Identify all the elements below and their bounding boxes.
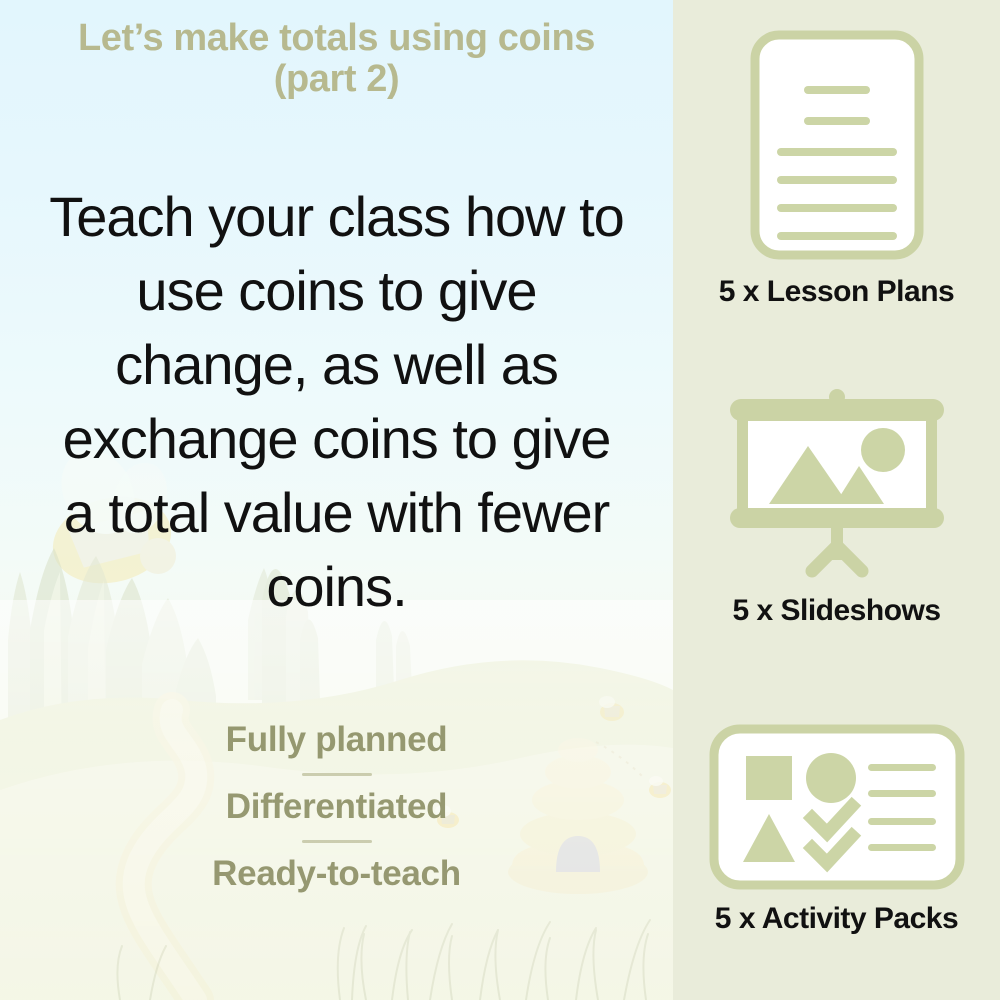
description-line: Teach your class how to [24,180,649,254]
grass-tufts [117,920,650,1000]
tagline-divider [302,773,372,776]
feature-label: 5 x Slideshows [673,594,1000,628]
description-line: use coins to give [24,254,649,328]
description-line: a total value with fewer [24,476,649,550]
promo-slide: Let’s make totals using coins (part 2) T… [0,0,1000,1000]
activity-card-icon [702,722,972,892]
feature-slideshows: 5 x Slideshows [673,388,1000,628]
description-line: coins. [24,550,649,624]
tagline-divider [302,840,372,843]
tagline-fully-planned: Fully planned [0,722,673,759]
tagline-ready-to-teach: Ready-to-teach [0,856,673,893]
document-icon [742,28,932,263]
slide-title: Let’s make totals using coins (part 2) [0,18,673,100]
title-line-2: (part 2) [18,59,655,100]
feature-label: 5 x Activity Packs [673,902,1000,936]
left-content-panel: Let’s make totals using coins (part 2) T… [0,0,673,1000]
projector-screen-icon [707,388,967,588]
feature-activity-packs: 5 x Activity Packs [673,722,1000,936]
feature-label: 5 x Lesson Plans [673,275,1000,309]
description-line: exchange coins to give [24,402,649,476]
right-features-panel: 5 x Lesson Plans [673,0,1000,1000]
description-line: change, as well as [24,328,649,402]
title-line-1: Let’s make totals using coins [18,18,655,59]
tagline-differentiated: Differentiated [0,789,673,826]
tagline-group: Fully planned Differentiated Ready-to-te… [0,722,673,892]
feature-lesson-plans: 5 x Lesson Plans [673,28,1000,309]
slide-description: Teach your class how to use coins to giv… [0,180,673,624]
